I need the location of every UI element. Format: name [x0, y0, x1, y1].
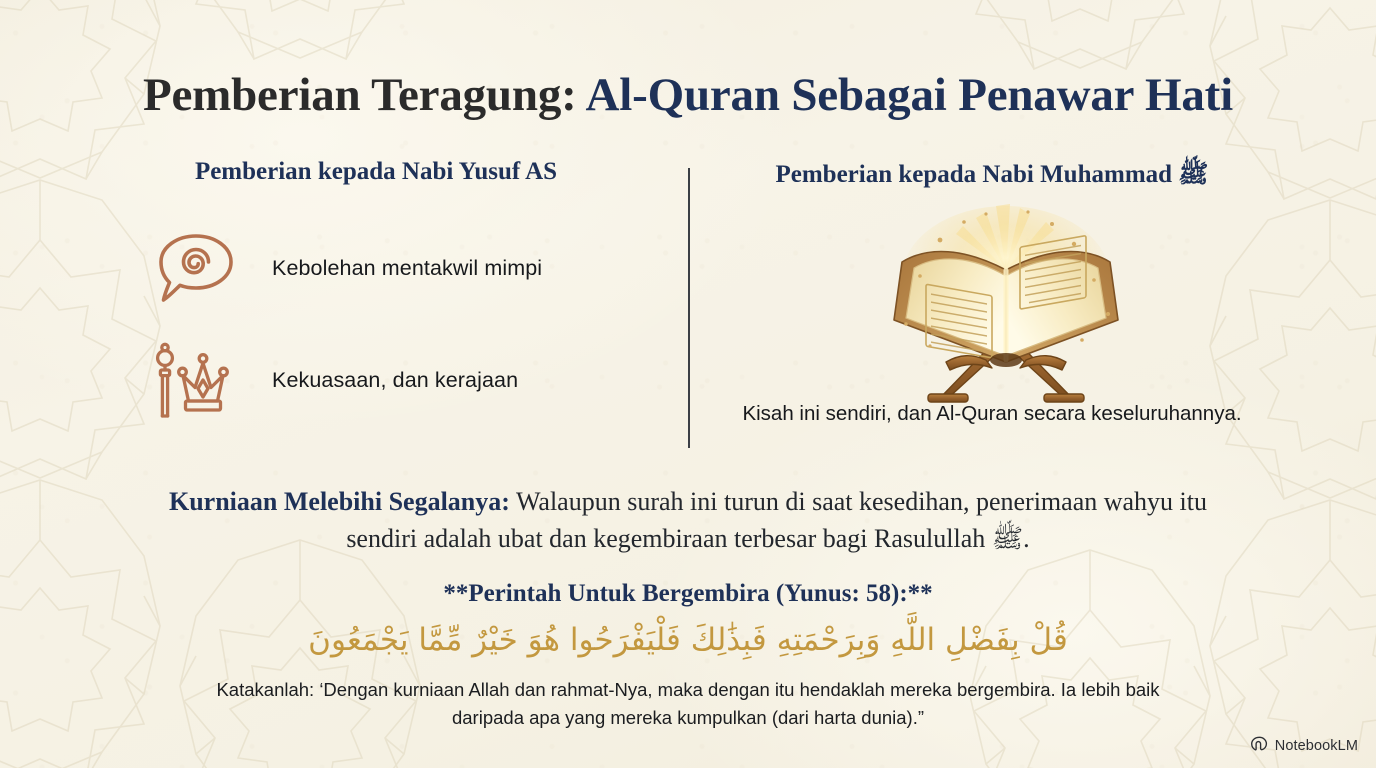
highlight-tail: . [1023, 524, 1030, 553]
notebooklm-watermark: NotebookLM [1251, 736, 1358, 756]
verse-arabic-text: قُلْ بِفَضْلِ اللَّهِ وَبِرَحْمَتِهِ فَب… [0, 620, 1376, 662]
highlight-paragraph: Kurniaan Melebihi Segalanya: Walaupun su… [138, 484, 1238, 558]
verse-heading: **Perintah Untuk Bergembira (Yunus: 58):… [0, 580, 1376, 608]
page-title: Pemberian Teragung: Al-Quran Sebagai Pen… [0, 68, 1376, 122]
right-panel-heading-text: Pemberian kepada Nabi Muhammad [775, 161, 1172, 188]
left-feature-label-1: Kebolehan mentakwil mimpi [272, 256, 542, 281]
left-feature-label-2: Kekuasaan, dan kerajaan [272, 368, 518, 393]
crown-scepter-icon [150, 340, 242, 420]
highlight-lead: Kurniaan Melebihi Segalanya: [169, 487, 510, 516]
right-panel-caption: Kisah ini sendiri, dan Al-Quran secara k… [742, 400, 1242, 428]
salawat-glyph-inline: ﷺ [992, 524, 1023, 553]
right-panel-heading: Pemberian kepada Nabi Muhammad ﷺ [712, 158, 1272, 195]
left-feature-item-1: Kebolehan mentakwil mimpi [150, 228, 670, 308]
page-title-navy-part: Al-Quran Sebagai Penawar Hati [586, 69, 1233, 121]
salawat-glyph: ﷺ [1178, 161, 1208, 188]
page-title-dark-part: Pemberian Teragung: [143, 69, 577, 121]
column-divider [688, 168, 690, 448]
left-panel-heading: Pemberian kepada Nabi Yusuf AS [96, 158, 656, 186]
verse-translation: Katakanlah: ‘Dengan kurniaan Allah dan r… [188, 676, 1188, 732]
two-column-section: Pemberian kepada Nabi Yusuf AS Kebolehan… [0, 158, 1376, 458]
left-feature-item-2: Kekuasaan, dan kerajaan [150, 340, 670, 420]
open-quran-on-rehal-icon [868, 204, 1144, 404]
notebooklm-logo-icon [1251, 736, 1268, 756]
speech-bubble-spiral-icon [150, 228, 242, 308]
notebooklm-label: NotebookLM [1275, 738, 1358, 754]
